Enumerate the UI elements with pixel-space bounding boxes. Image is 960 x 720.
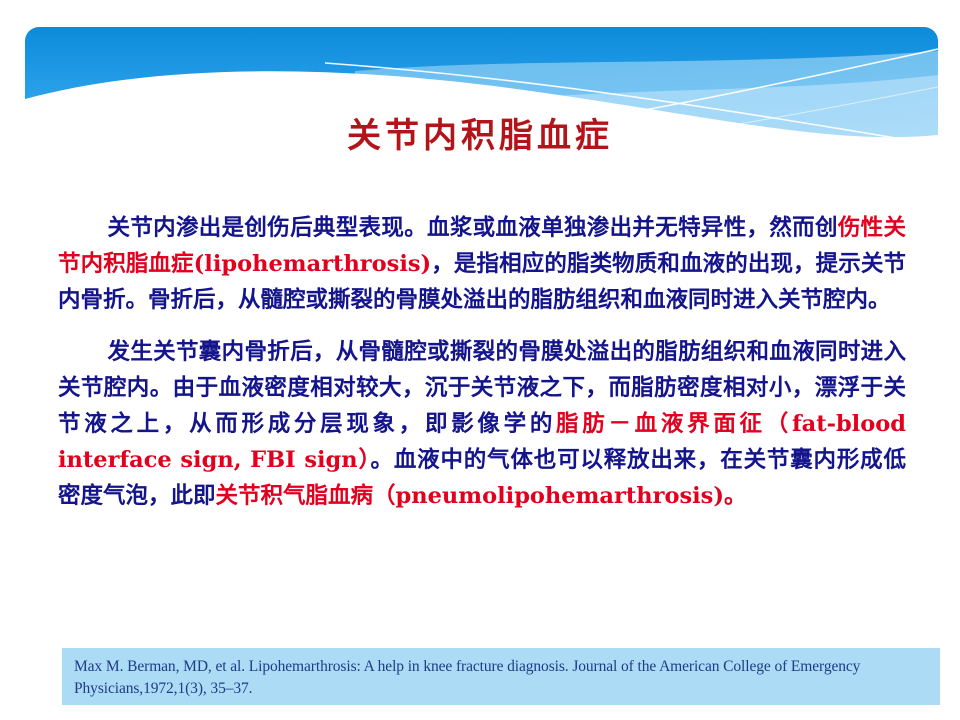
p1-run-1: 关节内渗出是创伤后典型表现。血浆或血液单独渗出并无特异性，然而创 bbox=[108, 215, 838, 241]
citation-text: Max M. Berman, MD, et al. Lipohemarthros… bbox=[74, 656, 930, 700]
paragraph-1: 关节内渗出是创伤后典型表现。血浆或血液单独渗出并无特异性，然而创伤性关节内积脂血… bbox=[58, 210, 906, 318]
p2-run-4-highlight: 关节积气脂血病（pneumolipohemarthrosis)。 bbox=[216, 483, 747, 509]
body-content: 关节内渗出是创伤后典型表现。血浆或血液单独渗出并无特异性，然而创伤性关节内积脂血… bbox=[58, 210, 906, 514]
citation-box: Max M. Berman, MD, et al. Lipohemarthros… bbox=[62, 648, 940, 705]
slide: 关节内积脂血症 关节内渗出是创伤后典型表现。血浆或血液单独渗出并无特异性，然而创… bbox=[0, 0, 960, 720]
paragraph-2: 发生关节囊内骨折后，从骨髓腔或撕裂的骨膜处溢出的脂肪组织和血液同时进入关节腔内。… bbox=[58, 334, 906, 514]
page-title: 关节内积脂血症 bbox=[0, 108, 960, 157]
